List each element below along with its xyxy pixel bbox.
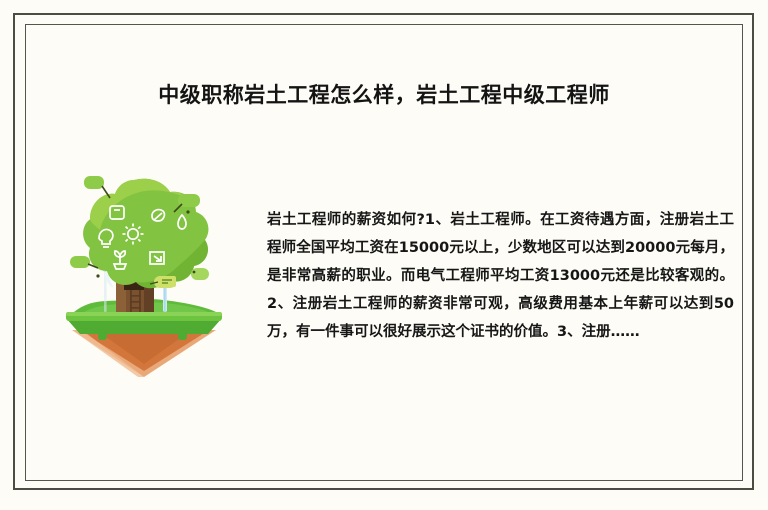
island-soil-base	[72, 330, 216, 377]
article-body: 岩土工程师的薪资如何?1、岩土工程师。在工资待遇方面，注册岩土工程师全国平均工资…	[267, 206, 734, 346]
page-title: 中级职称岩土工程怎么样，岩土工程中级工程师	[40, 80, 728, 110]
eco-island-illustration	[58, 172, 230, 377]
page-root: 中级职称岩土工程怎么样，岩土工程中级工程师	[0, 0, 768, 510]
eco-island-svg	[58, 172, 230, 377]
